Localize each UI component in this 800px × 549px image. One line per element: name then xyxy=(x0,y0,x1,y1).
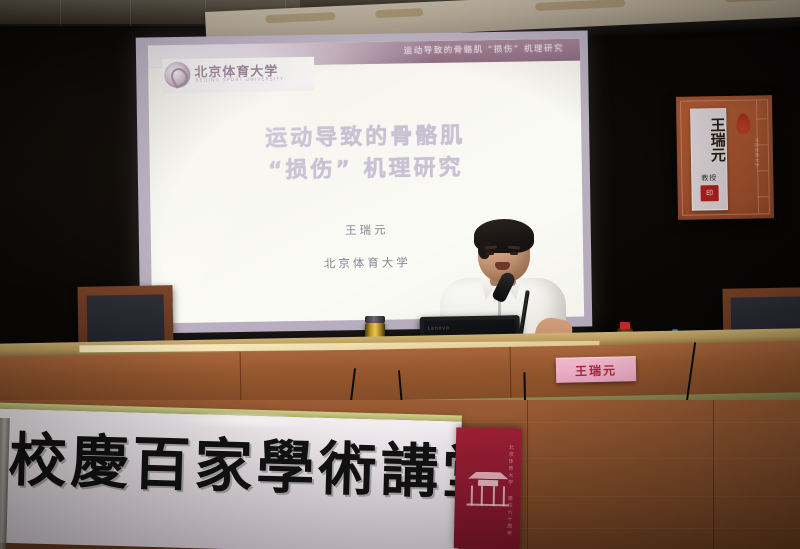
hair xyxy=(474,219,534,253)
seal-text: 印 xyxy=(700,185,718,201)
sign-speaker-name: 王瑞元 xyxy=(691,117,726,163)
university-logo-english: BEIJING SPORT UNIVERSITY xyxy=(195,77,284,83)
slide-title: 运动导致的骨骼肌 “损伤” 机理研究 xyxy=(149,119,582,190)
eye-right xyxy=(510,252,518,255)
banner-glare xyxy=(174,410,314,432)
university-logo-plate: 北京体育大学 BEIJING SPORT UNIVERSITY xyxy=(162,57,315,93)
sign-name-card: 王瑞元 教授 印 xyxy=(690,108,728,211)
desk-name-placard: 王瑞元 xyxy=(556,356,637,383)
red-seal-icon: 印 xyxy=(700,185,718,201)
banner-red-panel: 北京体育大学 建校六十周年 xyxy=(454,427,523,549)
placard-text: 王瑞元 xyxy=(556,357,636,383)
university-logo-icon xyxy=(164,62,190,88)
chair-left xyxy=(77,285,173,349)
slide-header-title: 运动导致的骨骼肌 “损伤” 机理研究 xyxy=(404,42,564,57)
thermos-cap xyxy=(365,316,385,323)
speaker-name-sign: 北京体育大学 王瑞元 教授 印 xyxy=(676,95,774,220)
sign-speaker-title: 教授 xyxy=(692,173,726,184)
sign-subtext: 北京体育大学 xyxy=(753,137,760,168)
gate-archway-icon xyxy=(465,472,512,507)
bottle-cap xyxy=(620,322,630,329)
eye-left xyxy=(486,252,494,255)
laptop-brand-label: Lenovo xyxy=(428,325,450,331)
event-banner: 校慶百家學術講堂 xyxy=(0,408,462,549)
banner-title-text: 校慶百家學術講堂 xyxy=(8,431,505,503)
slide-title-line-2: “损伤” 机理研究 xyxy=(150,150,582,189)
lecture-hall-photo: 运动导致的骨骼肌 “损伤” 机理研究 北京体育大学 BEIJING SPORT … xyxy=(0,0,800,549)
red-panel-bottom-text: 建校六十周年 xyxy=(506,495,514,537)
mouth xyxy=(495,262,510,270)
